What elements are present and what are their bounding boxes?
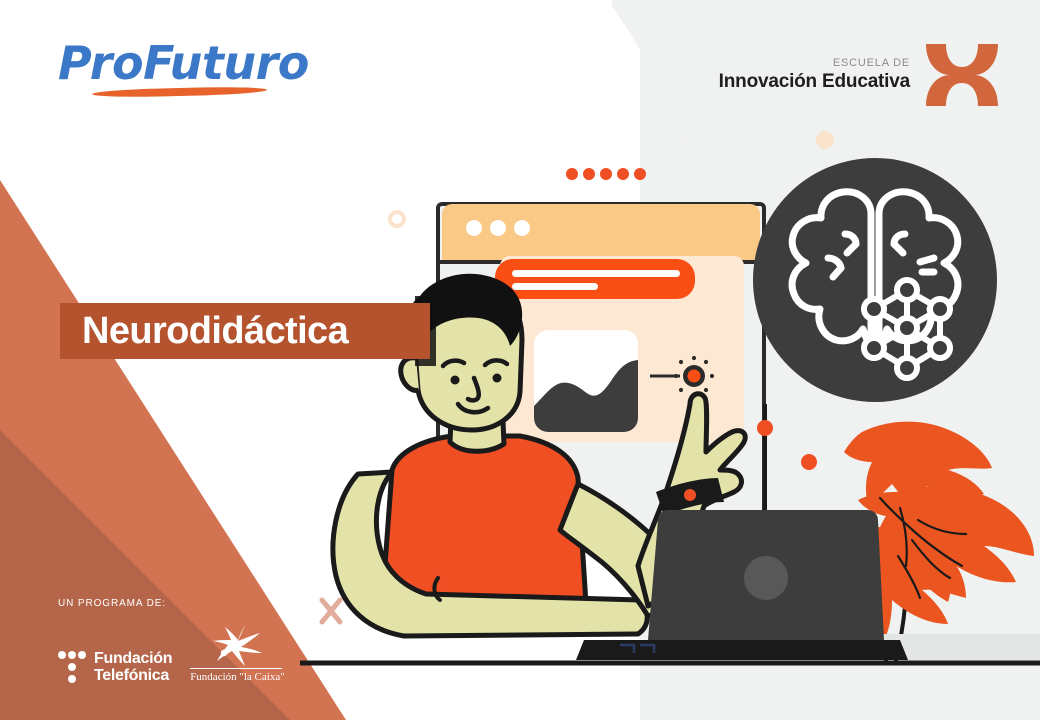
title-banner: Neurodidáctica (60, 303, 430, 359)
profuturo-wordmark: ProFuturo (58, 38, 288, 88)
caixa-rule (190, 668, 282, 669)
ft-line-2: Telefónica (94, 667, 172, 684)
fundacion-la-caixa-logo: Fundación "la Caixa" (190, 623, 282, 684)
page-title: Neurodidáctica (60, 310, 348, 352)
profuturo-logo: ProFuturo (58, 38, 288, 104)
caixa-caption: Fundación "la Caixa" (190, 671, 282, 684)
fundacion-telefonica-logo: Fundación Telefónica (58, 650, 172, 684)
escuela-innovacion-logo: ESCUELA DE Innovación Educativa (719, 44, 1000, 106)
ft-line-1: Fundación (94, 650, 172, 667)
telefonica-dots-icon (58, 650, 86, 684)
caixa-star-icon (205, 623, 267, 667)
escuela-x-mark-icon (924, 44, 1000, 106)
escuela-name: Innovación Educativa (719, 70, 910, 93)
sponsors-row: Fundación Telefónica Fundación "la Caixa… (58, 623, 318, 684)
slide-canvas: Neurodidáctica ProFuturo ESCUELA DE Inno… (0, 0, 1040, 720)
escuela-kicker: ESCUELA DE (719, 57, 910, 70)
escuela-logo-text: ESCUELA DE Innovación Educativa (719, 57, 910, 93)
fundacion-telefonica-name: Fundación Telefónica (94, 650, 172, 684)
sponsors-block: UN PROGRAMA DE: Fundación Telefónica (58, 598, 318, 684)
sponsors-kicker: UN PROGRAMA DE: (58, 598, 318, 609)
